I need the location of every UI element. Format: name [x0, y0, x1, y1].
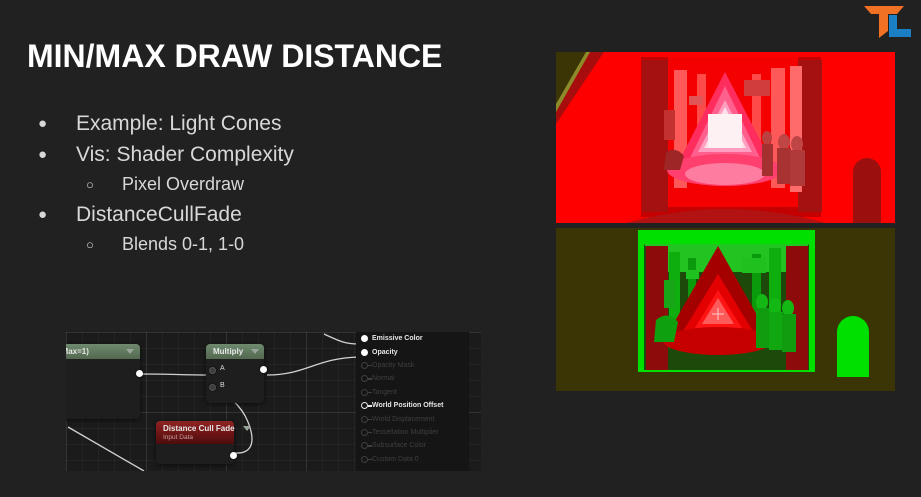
- list-item-label: Vis: Shader Complexity: [76, 139, 500, 170]
- list-item-label: Example: Light Cones: [76, 108, 500, 139]
- output-pin-normal[interactable]: Normal: [356, 372, 469, 385]
- pin-dot-icon[interactable]: [361, 429, 368, 436]
- list-item: ● Example: Light Cones: [30, 108, 500, 139]
- bullet-marker: ●: [38, 199, 76, 230]
- output-pin-subsurface-color[interactable]: Subsurface Color: [356, 439, 469, 452]
- bullet-marker: ○: [86, 170, 122, 199]
- pin-dot-icon[interactable]: [361, 416, 368, 423]
- shader-complexity-before-svg: [556, 52, 895, 223]
- bullet-marker: ○: [86, 230, 122, 259]
- pin-dot-icon[interactable]: [361, 456, 368, 463]
- pin-dot-icon[interactable]: [361, 335, 368, 342]
- distance-cull-fade-node[interactable]: Distance Cull Fade Input Data: [156, 421, 234, 464]
- pin-dot-icon[interactable]: [361, 402, 368, 409]
- output-pin-label: Subsurface Color: [372, 442, 426, 449]
- pin-dot-icon[interactable]: [361, 442, 368, 449]
- pin-dot-icon[interactable]: [361, 375, 368, 382]
- chevron-down-icon[interactable]: [251, 349, 259, 354]
- multiply-node[interactable]: Multiply A B: [206, 344, 264, 403]
- distance-cull-fade-header: Distance Cull Fade: [156, 421, 234, 434]
- shader-complexity-before-image: [556, 52, 895, 223]
- pin-dot-icon[interactable]: [361, 389, 368, 396]
- output-pin-label: World Position Offset: [372, 402, 443, 409]
- clamp-node[interactable]: ) (Max=1): [66, 344, 140, 419]
- multiply-output-pin[interactable]: [260, 366, 267, 373]
- distance-cull-fade-output-pin[interactable]: [230, 452, 237, 459]
- chevron-down-icon[interactable]: [126, 349, 134, 354]
- list-item: ● Vis: Shader Complexity: [30, 139, 500, 170]
- output-pin-label: Tessellation Multiplier: [372, 429, 439, 436]
- output-pin-label: World Displacement: [372, 416, 435, 423]
- pin-dot-icon[interactable]: [361, 349, 368, 356]
- output-pin-world-displacement[interactable]: World Displacement: [356, 412, 469, 425]
- tl-logo: [858, 4, 914, 38]
- output-pin-label: Opacity Mask: [372, 362, 414, 369]
- clamp-node-body: [66, 359, 140, 419]
- distance-cull-fade-subtitle-wrap: Input Data: [156, 434, 234, 444]
- output-pin-label: Custom Data 0: [372, 456, 419, 463]
- shader-complexity-after-image: [556, 228, 895, 391]
- output-pin-tessellation-multiplier[interactable]: Tessellation Multiplier: [356, 426, 469, 439]
- output-pin-opacity[interactable]: Opacity: [356, 345, 469, 358]
- shader-complexity-after-svg: [556, 228, 895, 391]
- output-pin-tangent[interactable]: Tangent: [356, 386, 469, 399]
- unreal-material-graph[interactable]: ) (Max=1) Multiply A B Dis: [66, 332, 481, 471]
- distance-cull-fade-title: Distance Cull Fade: [163, 424, 235, 433]
- list-item-label: Blends 0-1, 1-0: [122, 230, 500, 259]
- chevron-down-icon[interactable]: [243, 426, 251, 431]
- tl-logo-icon: [858, 4, 914, 38]
- multiply-node-body: A B: [206, 359, 264, 403]
- list-item-label: DistanceCullFade: [76, 199, 500, 230]
- bullet-list: ● Example: Light Cones ● Vis: Shader Com…: [30, 108, 500, 259]
- clamp-node-header: ) (Max=1): [66, 344, 140, 359]
- material-output-node[interactable]: Emissive Color Opacity Opacity Mask Norm…: [356, 332, 469, 471]
- clamp-node-title: ) (Max=1): [66, 347, 89, 356]
- output-pin-emissive-color[interactable]: Emissive Color: [356, 332, 469, 345]
- list-item-label: Pixel Overdraw: [122, 170, 500, 199]
- output-pin-opacity-mask[interactable]: Opacity Mask: [356, 359, 469, 372]
- distance-cull-fade-body: [156, 444, 234, 464]
- clamp-output-pin[interactable]: [136, 370, 143, 377]
- output-pin-label: Opacity: [372, 349, 398, 356]
- distance-cull-fade-subtitle: Input Data: [156, 434, 234, 444]
- multiply-input-b-pin[interactable]: [209, 384, 216, 391]
- output-pin-label: Tangent: [372, 389, 397, 396]
- list-item: ○ Blends 0-1, 1-0: [30, 230, 500, 259]
- multiply-input-b-label: B: [220, 382, 225, 389]
- bullet-marker: ●: [38, 139, 76, 170]
- output-pin-custom-data-0[interactable]: Custom Data 0: [356, 453, 469, 466]
- output-pin-label: Emissive Color: [372, 335, 423, 342]
- multiply-input-a-label: A: [220, 365, 225, 372]
- multiply-node-header: Multiply: [206, 344, 264, 359]
- multiply-node-title: Multiply: [213, 347, 243, 356]
- multiply-input-a-pin[interactable]: [209, 367, 216, 374]
- list-item: ○ Pixel Overdraw: [30, 170, 500, 199]
- bullet-marker: ●: [38, 108, 76, 139]
- page-title: MIN/MAX DRAW DISTANCE: [27, 38, 442, 75]
- pin-dot-icon[interactable]: [361, 362, 368, 369]
- output-pin-label: Normal: [372, 375, 395, 382]
- list-item: ● DistanceCullFade: [30, 199, 500, 230]
- slide-root: MIN/MAX DRAW DISTANCE ● Example: Light C…: [0, 0, 921, 497]
- output-pin-world-position-offset[interactable]: World Position Offset: [356, 399, 469, 412]
